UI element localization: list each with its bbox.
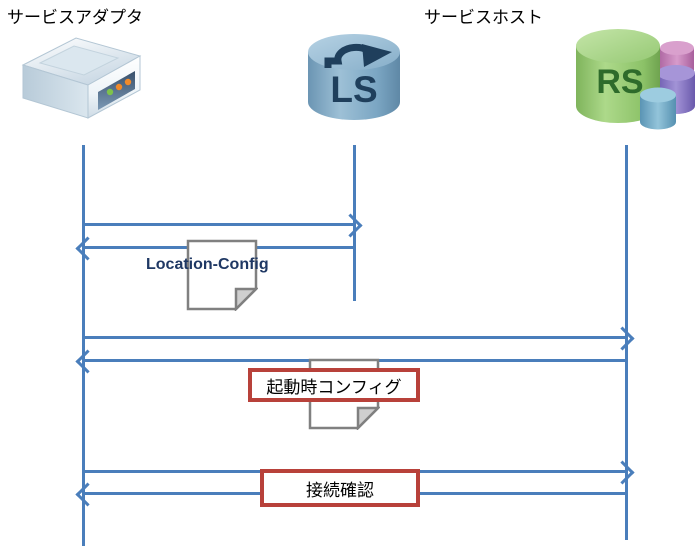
message-label-location-config: Location-Config: [146, 256, 269, 274]
message-arrow-3: [83, 336, 627, 339]
note-document-icon-1: [186, 239, 258, 311]
network-adapter-icon: [18, 30, 146, 130]
ls-icon-text: LS: [330, 69, 377, 110]
arrow-head-right-icon: [610, 326, 634, 350]
arrow-head-left-icon: [75, 236, 99, 260]
message-label-connection-check: 接続確認: [260, 469, 420, 507]
arrow-head-right-icon: [338, 213, 362, 237]
participant-label-adapter: サービスアダプタ: [7, 3, 143, 28]
arrow-head-left-icon: [75, 482, 99, 506]
sequence-diagram-canvas: サービスアダプタ サービスホスト: [0, 0, 696, 546]
arrow-head-right-icon: [610, 460, 634, 484]
rs-database-cylinder-icon: RS: [568, 18, 696, 136]
participant-label-host: サービスホスト: [424, 3, 543, 28]
arrow-head-left-icon: [75, 349, 99, 373]
ls-database-cylinder-icon: LS: [298, 22, 410, 134]
message-label-startup-config: 起動時コンフィグ: [248, 368, 420, 402]
rs-icon-text: RS: [596, 63, 643, 101]
message-arrow-1: [83, 223, 355, 226]
